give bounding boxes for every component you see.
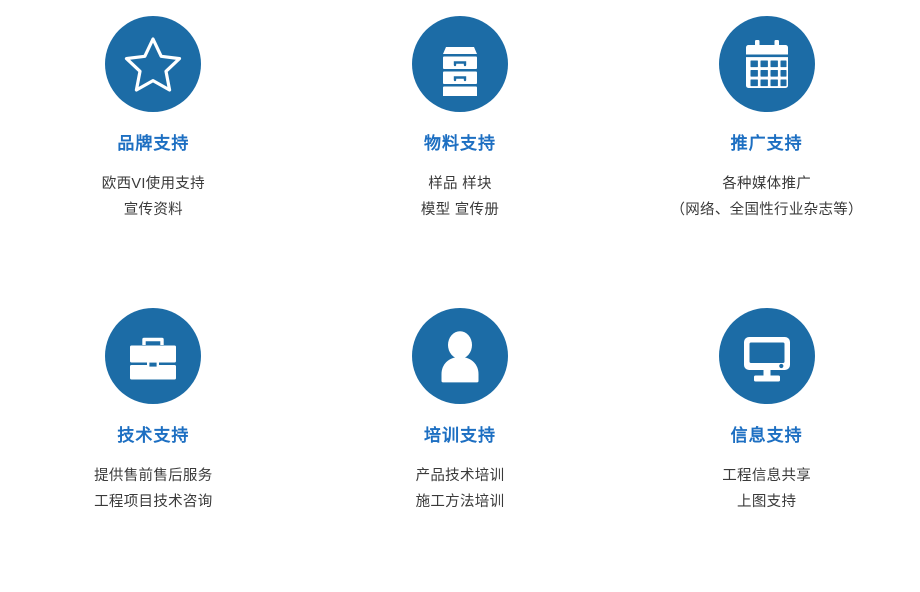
feature-description-line: 施工方法培训	[416, 490, 505, 515]
feature-description-line: 欧西VI使用支持	[102, 172, 205, 197]
feature-card-material-support[interactable]: 物料支持 样品 样块 模型 宣传册	[307, 0, 614, 296]
feature-card-promotion-support[interactable]: 推广支持 各种媒体推广 （网络、全国性行业杂志等）	[613, 0, 920, 296]
feature-description-line: （网络、全国性行业杂志等）	[670, 198, 862, 223]
feature-title: 技术支持	[117, 426, 189, 446]
feature-description: 各种媒体推广 （网络、全国性行业杂志等）	[670, 172, 862, 223]
person-icon	[412, 308, 508, 404]
feature-card-information-support[interactable]: 信息支持 工程信息共享 上图支持	[613, 296, 920, 592]
feature-description-line: 样品 样块	[421, 172, 499, 197]
feature-description: 样品 样块 模型 宣传册	[421, 172, 499, 223]
star-icon	[105, 16, 201, 112]
feature-description: 欧西VI使用支持 宣传资料	[102, 172, 205, 223]
feature-title: 品牌支持	[117, 134, 189, 154]
feature-title: 培训支持	[424, 426, 496, 446]
feature-title: 推广支持	[731, 134, 803, 154]
briefcase-icon	[105, 308, 201, 404]
feature-description-line: 宣传资料	[102, 198, 205, 223]
feature-description-line: 各种媒体推广	[670, 172, 862, 197]
feature-title: 物料支持	[424, 134, 496, 154]
monitor-icon	[719, 308, 815, 404]
feature-card-technical-support[interactable]: 技术支持 提供售前售后服务 工程项目技术咨询	[0, 296, 307, 592]
filing-cabinet-icon	[412, 16, 508, 112]
feature-card-brand-support[interactable]: 品牌支持 欧西VI使用支持 宣传资料	[0, 0, 307, 296]
features-grid: 品牌支持 欧西VI使用支持 宣传资料 物料支持 样品	[0, 0, 920, 592]
feature-description: 产品技术培训 施工方法培训	[416, 464, 505, 515]
feature-description-line: 上图支持	[722, 490, 811, 515]
feature-description-line: 提供售前售后服务	[94, 464, 212, 489]
feature-card-training-support[interactable]: 培训支持 产品技术培训 施工方法培训	[307, 296, 614, 592]
feature-description-line: 工程项目技术咨询	[94, 490, 212, 515]
feature-description: 工程信息共享 上图支持	[722, 464, 811, 515]
feature-description: 提供售前售后服务 工程项目技术咨询	[94, 464, 212, 515]
calendar-icon	[719, 16, 815, 112]
feature-title: 信息支持	[731, 426, 803, 446]
feature-description-line: 产品技术培训	[416, 464, 505, 489]
feature-description-line: 工程信息共享	[722, 464, 811, 489]
feature-description-line: 模型 宣传册	[421, 198, 499, 223]
